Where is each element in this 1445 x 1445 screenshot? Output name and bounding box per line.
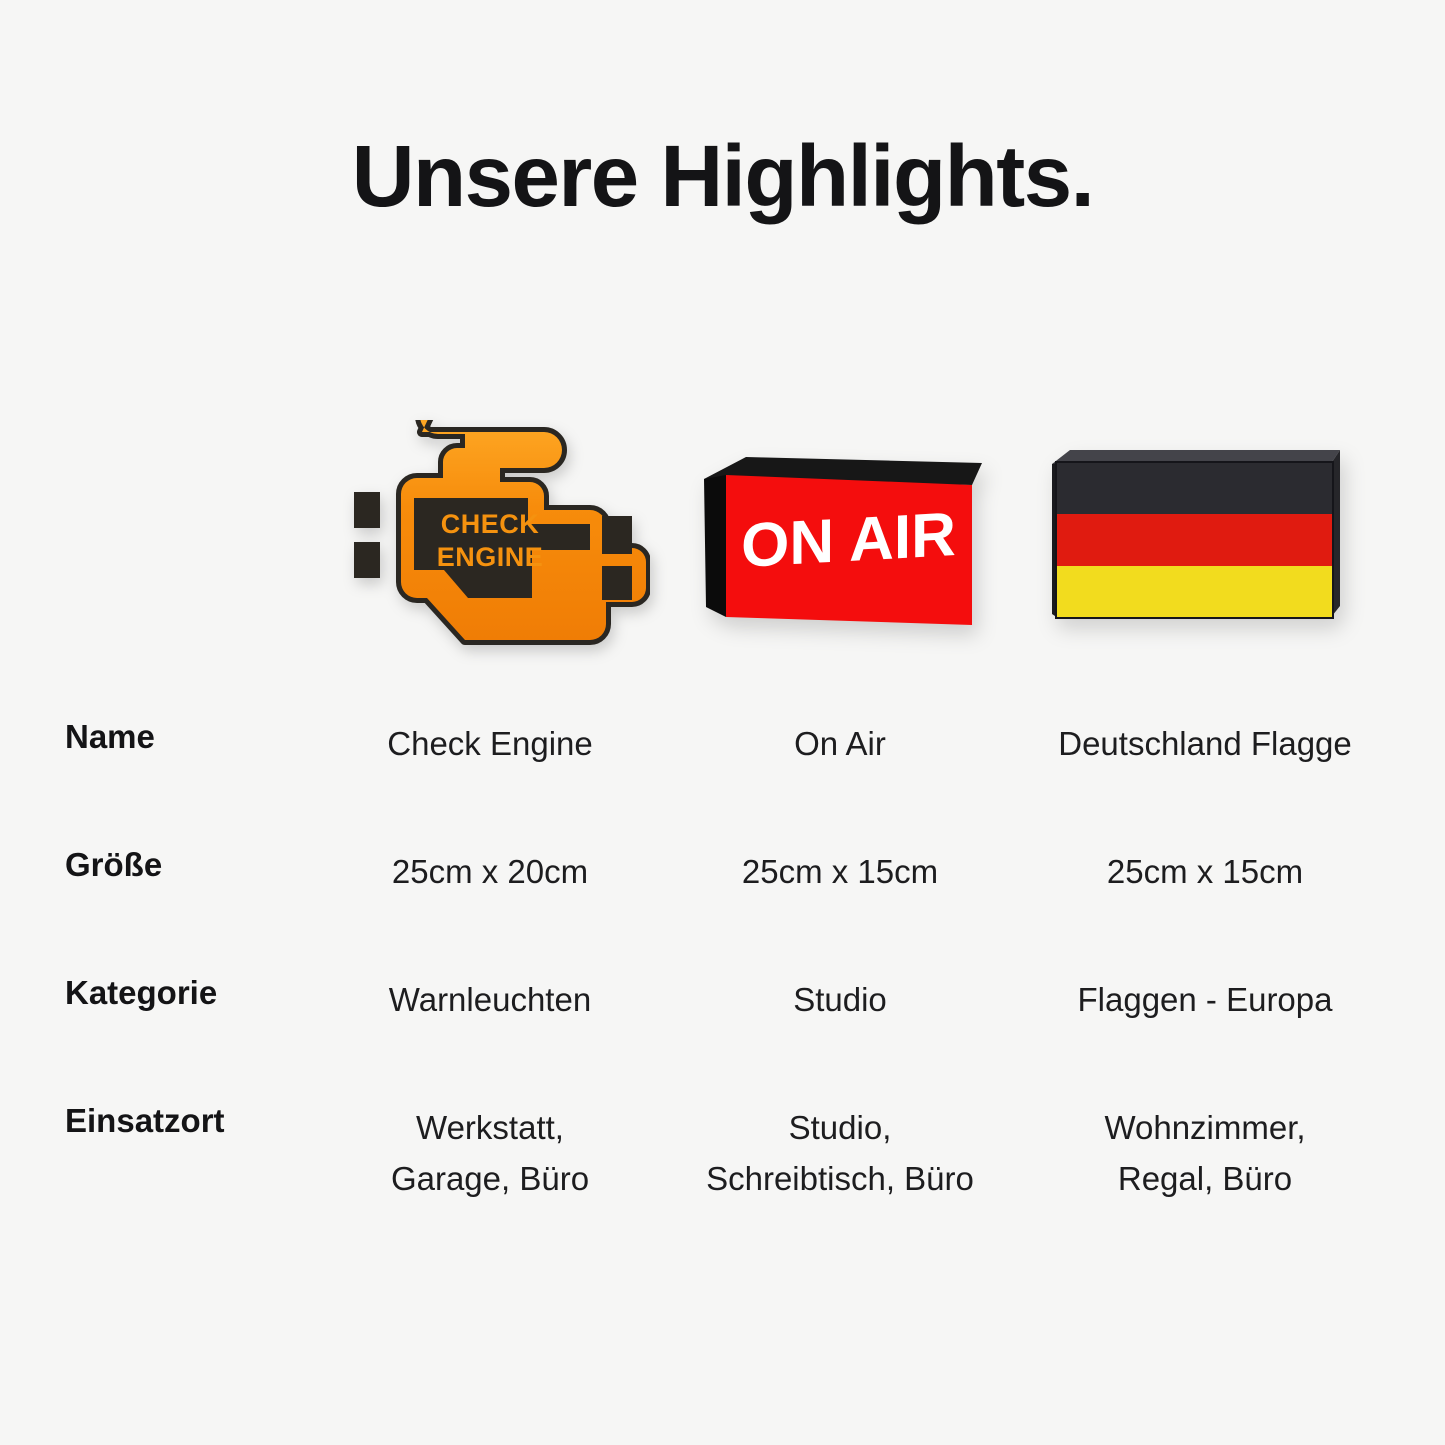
specs-table: Name Check Engine On Air Deutschland Fla… xyxy=(0,690,1445,1244)
page-title: Unsere Highlights. xyxy=(0,133,1445,220)
cell-einsatzort-on-air: Studio, Schreibtisch, Büro xyxy=(665,1074,1015,1204)
on-air-box-icon xyxy=(690,435,990,635)
cell-einsatzort-deutschland-flagge: Wohnzimmer, Regal, Büro xyxy=(1015,1074,1395,1204)
product-image-check-engine[interactable]: CHECK ENGINE xyxy=(315,400,665,670)
cell-kategorie-on-air: Studio xyxy=(665,946,1015,1025)
cell-line: Regal, Büro xyxy=(1015,1153,1395,1204)
cell-line: Garage, Büro xyxy=(315,1153,665,1204)
cell-groesse-deutschland-flagge: 25cm x 15cm xyxy=(1015,818,1395,897)
on-air-sign: ON AIR xyxy=(690,435,990,635)
cell-groesse-on-air: 25cm x 15cm xyxy=(665,818,1015,897)
highlights-page: Unsere Highlights. xyxy=(0,0,1445,1445)
cell-line: Studio, xyxy=(665,1102,1015,1153)
cell-kategorie-deutschland-flagge: Flaggen - Europa xyxy=(1015,946,1395,1025)
cell-name-deutschland-flagge: Deutschland Flagge xyxy=(1015,690,1395,769)
germany-flag-sign xyxy=(1040,430,1350,640)
cell-einsatzort-check-engine: Werkstatt, Garage, Büro xyxy=(315,1074,665,1204)
product-image-row: CHECK ENGINE ON AIR xyxy=(0,400,1445,670)
check-engine-icon xyxy=(330,420,650,650)
row-label-kategorie: Kategorie xyxy=(0,946,315,1012)
table-row: Kategorie Warnleuchten Studio Flaggen - … xyxy=(0,946,1445,1074)
cell-line: Werkstatt, xyxy=(315,1102,665,1153)
cell-name-check-engine: Check Engine xyxy=(315,690,665,769)
check-engine-sign: CHECK ENGINE xyxy=(330,420,650,650)
product-image-on-air[interactable]: ON AIR xyxy=(665,400,1015,670)
germany-flag-box-icon xyxy=(1040,430,1350,640)
cell-line: Schreibtisch, Büro xyxy=(665,1153,1015,1204)
cell-groesse-check-engine: 25cm x 20cm xyxy=(315,818,665,897)
row-label-name: Name xyxy=(0,690,315,756)
table-row: Name Check Engine On Air Deutschland Fla… xyxy=(0,690,1445,818)
product-image-deutschland-flagge[interactable] xyxy=(1015,400,1375,670)
row-label-groesse: Größe xyxy=(0,818,315,884)
cell-kategorie-check-engine: Warnleuchten xyxy=(315,946,665,1025)
table-row: Einsatzort Werkstatt, Garage, Büro Studi… xyxy=(0,1074,1445,1244)
table-row: Größe 25cm x 20cm 25cm x 15cm 25cm x 15c… xyxy=(0,818,1445,946)
row-label-einsatzort: Einsatzort xyxy=(0,1074,315,1140)
cell-name-on-air: On Air xyxy=(665,690,1015,769)
cell-line: Wohnzimmer, xyxy=(1015,1102,1395,1153)
